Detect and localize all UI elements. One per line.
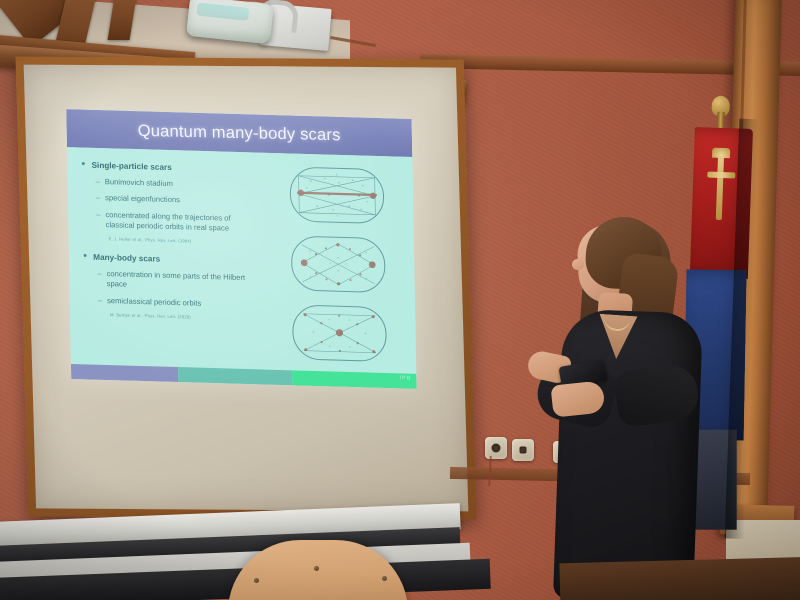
chair-rivet (382, 576, 387, 581)
dash-bullet-icon: – (96, 193, 100, 203)
slide-bullet: – Bunimovich stadium (96, 177, 259, 192)
torso (553, 309, 703, 600)
slide-citation: E. J. Heller et al., Phys. Rev. Lett. (1… (109, 236, 260, 245)
dash-bullet-icon: – (96, 177, 100, 187)
slide-bullet: – concentration in some parts of the Hil… (97, 269, 260, 294)
bunimovich-stadium-scar-1 (289, 166, 384, 224)
dash-bullet-icon: – (96, 209, 100, 219)
slide-bullet: – special eigenfunctions (96, 193, 259, 208)
slide-body: ● Single-particle scars – Bunimovich sta… (67, 147, 416, 374)
bunimovich-stadium-scar-3 (292, 304, 387, 362)
socket-hole-icon (492, 444, 501, 453)
projection-screen-frame: Quantum many-body scars ● Single-particl… (15, 57, 476, 520)
slide-bullet: – semiclassical periodic orbits (98, 295, 261, 310)
dash-bullet-icon: – (97, 269, 101, 279)
presenter (520, 215, 735, 600)
side-table (559, 557, 800, 600)
slide-section-heading: ● Single-particle scars (81, 160, 258, 174)
footer-segment (71, 364, 178, 382)
projected-slide: Quantum many-body scars ● Single-particl… (66, 109, 416, 389)
slide-bullet: – concentrated along the trajectories of… (96, 209, 259, 234)
chair-rivet (314, 566, 319, 571)
footer-segment (292, 370, 417, 389)
slide-citation: M. Serbyn et al., Phys. Rev. Lett. (2020… (110, 312, 261, 321)
slide-figure-column (264, 153, 416, 374)
bullet-dot-icon: ● (83, 252, 87, 260)
cross-icon (716, 156, 724, 220)
bullet-dot-icon: ● (81, 160, 85, 168)
presentation-room-photo: Quantum many-body scars ● Single-particl… (0, 0, 800, 600)
footer-segment (178, 367, 292, 385)
slide-title: Quantum many-body scars (138, 121, 341, 144)
slide-text-column: ● Single-particle scars – Bunimovich sta… (67, 147, 268, 370)
projection-screen-surface: Quantum many-body scars ● Single-particl… (24, 65, 469, 512)
cross-icon (707, 172, 735, 179)
bunimovich-stadium-scar-2 (290, 235, 385, 293)
power-socket (485, 437, 507, 459)
dash-bullet-icon: – (98, 295, 102, 305)
institute-logo: IPB (399, 375, 411, 381)
chair-rivet (254, 578, 259, 583)
slide-section-heading: ● Many-body scars (83, 252, 260, 266)
